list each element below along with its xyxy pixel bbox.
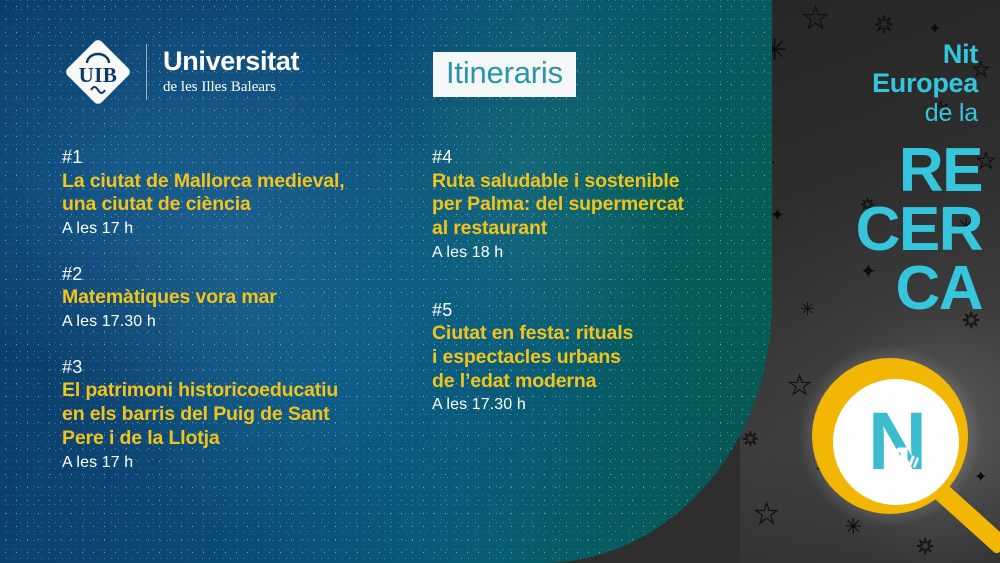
- itinerary-title-line: i espectacles urbans: [432, 346, 752, 370]
- itinerary-title-line: Pere i de la Llotja: [62, 427, 412, 451]
- itinerary-title-line: Ciutat en festa: rituals: [432, 322, 752, 346]
- sparkle-icon: ✦: [770, 206, 785, 224]
- itinerary-title-line: en els barris del Puig de Sant: [62, 403, 412, 427]
- itinerary-time: A les 18 h: [432, 243, 752, 264]
- itinerary-title-line: de l’edat moderna: [432, 370, 752, 394]
- itinerary-title: Ruta saludable i sostenible per Palma: d…: [432, 170, 752, 241]
- itinerary-title-line: per Palma: del supermercat: [432, 193, 752, 217]
- itinerary-time: A les 17.30 h: [432, 395, 752, 416]
- logo-divider: [146, 44, 147, 100]
- star-outline-icon: ★: [802, 4, 829, 34]
- itinerary-title: Ciutat en festa: rituals i espectacles u…: [432, 322, 752, 393]
- event-title-line2: Europea: [872, 69, 978, 98]
- itinerary-title-line: Ruta saludable i sostenible: [432, 170, 752, 194]
- itinerary-time: A les 17 h: [62, 453, 412, 474]
- itinerary-title-line: una ciutat de ciència: [62, 193, 412, 217]
- itinerary-title-line: La ciutat de Mallorca medieval,: [62, 170, 412, 194]
- itinerary-item[interactable]: #2 Matemàtiques vora mar A les 17.30 h: [62, 263, 412, 333]
- university-name: Universitat: [163, 47, 299, 75]
- university-subtitle: de les Illes Balears: [163, 78, 299, 97]
- itinerary-number: #4: [432, 146, 752, 169]
- recerca-line: CER: [856, 201, 982, 260]
- event-title-line1: Nit: [872, 40, 978, 69]
- poster-canvas: ✦ ★ ✷ ✦ ✳ ★ ✦ ✷ ✳ ★ ✦ ✷ ✳ ★ ✦ ✳ ✷ ✦ ★ ✳ …: [0, 0, 1000, 563]
- itinerary-column-right: #4 Ruta saludable i sostenible per Palma…: [432, 146, 752, 439]
- svg-text:UIB: UIB: [79, 63, 118, 87]
- section-heading-box: Itineraris: [433, 52, 576, 97]
- uib-diamond-icon: UIB: [62, 36, 134, 108]
- recerca-line: RE: [856, 142, 982, 201]
- flask-icon: [886, 445, 922, 479]
- sparkle-icon: ✳: [800, 300, 815, 318]
- magnifier-ring: N: [812, 358, 968, 514]
- itinerary-item[interactable]: #3 El patrimoni historicoeducatiu en els…: [62, 356, 412, 474]
- itinerary-item[interactable]: #5 Ciutat en festa: rituals i espectacle…: [432, 299, 752, 417]
- itinerary-title: El patrimoni historicoeducatiu en els ba…: [62, 379, 412, 450]
- itinerary-number: #3: [62, 356, 412, 379]
- itinerary-title-line: El patrimoni historicoeducatiu: [62, 379, 412, 403]
- itinerary-title-line: Matemàtiques vora mar: [62, 286, 412, 310]
- itinerary-title: Matemàtiques vora mar: [62, 286, 412, 310]
- recerca-line: CA: [856, 260, 982, 319]
- itinerary-number: #2: [62, 263, 412, 286]
- itinerary-title: La ciutat de Mallorca medieval, una ciut…: [62, 170, 412, 218]
- section-heading-text: Itineraris: [446, 57, 563, 90]
- event-title-block: Nit Europea de la: [872, 40, 978, 129]
- uib-logo: UIB Universitat de les Illes Balears: [62, 36, 299, 108]
- logo-letter-n: N: [868, 401, 924, 483]
- magnifier-logo: N: [806, 352, 1000, 563]
- itinerary-number: #5: [432, 299, 752, 322]
- itinerary-column-left: #1 La ciutat de Mallorca medieval, una c…: [62, 146, 412, 497]
- itinerary-time: A les 17 h: [62, 219, 412, 240]
- itinerary-number: #1: [62, 146, 412, 169]
- magnifier-lens: N: [833, 379, 959, 505]
- recerca-wordmark: RE CER CA: [856, 142, 982, 319]
- itinerary-item[interactable]: #1 La ciutat de Mallorca medieval, una c…: [62, 146, 412, 240]
- itinerary-title-line: al restaurant: [432, 217, 752, 241]
- sparkle-icon: ✦: [928, 22, 941, 38]
- itinerary-item[interactable]: #4 Ruta saludable i sostenible per Palma…: [432, 146, 752, 264]
- star-outline-icon: ✷: [874, 14, 894, 38]
- itinerary-time: A les 17.30 h: [62, 312, 412, 333]
- event-title-line3: de la: [872, 98, 978, 129]
